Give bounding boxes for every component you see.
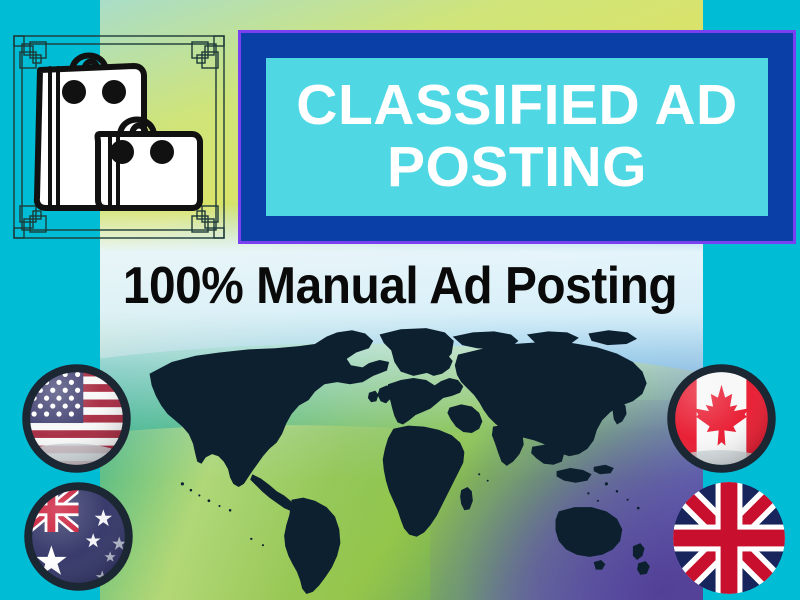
flag-canada-badge	[665, 362, 778, 475]
title-banner: CLASSIFIED AD POSTING	[238, 30, 796, 244]
title-line-2: POSTING	[387, 137, 647, 199]
flag-uk-badge	[673, 482, 785, 594]
subtitle-text: 100% Manual Ad Posting	[32, 256, 768, 316]
flag-usa-badge	[20, 362, 133, 475]
shopping-bags-icon	[28, 38, 212, 224]
world-map	[140, 325, 670, 595]
title-banner-inner: CLASSIFIED AD POSTING	[266, 58, 768, 216]
flag-australia-badge	[22, 480, 135, 593]
title-line-1: CLASSIFIED AD	[296, 75, 737, 137]
classified-ad-poster: CLASSIFIED AD POSTING 100% Manual Ad Pos…	[0, 0, 800, 600]
